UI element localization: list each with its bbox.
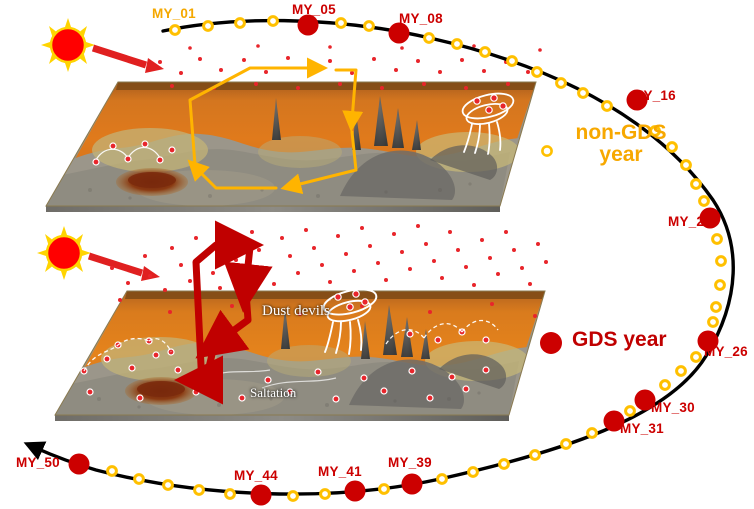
year-label-my-30: MY_30: [651, 400, 695, 415]
year-label-my-26: MY_26: [704, 344, 748, 359]
year-label-my-50: MY_50: [16, 455, 60, 470]
year-label-my-16: MY_16: [632, 88, 676, 103]
year-label-my-08: MY_08: [399, 11, 443, 26]
year-label-my-01: MY_01: [152, 6, 196, 21]
legend-nongds-line1: non-GDS: [558, 122, 684, 144]
panel-text-saltation: Saltation: [250, 385, 296, 401]
legend-nongds: non-GDS year: [558, 122, 684, 166]
year-label-my-39: MY_39: [388, 455, 432, 470]
panel-text-dust-devils: Dust devils: [262, 303, 330, 320]
legend-nongds-marker-icon: [538, 142, 556, 160]
mars-dust-storm-figure: MY_01MY_05MY_08MY_16MY_21MY_26MY_30MY_31…: [0, 0, 754, 509]
year-label-my-44: MY_44: [234, 468, 278, 483]
legend-gds-label: GDS year: [572, 329, 667, 351]
year-label-my-05: MY_05: [292, 2, 336, 17]
legend-gds-marker-icon: [536, 328, 566, 358]
year-label-my-21: MY_21: [668, 214, 712, 229]
year-label-my-31: MY_31: [620, 421, 664, 436]
legend-nongds-line2: year: [558, 144, 684, 166]
timeline-label-layer: MY_01MY_05MY_08MY_16MY_21MY_26MY_30MY_31…: [0, 0, 754, 509]
year-label-my-41: MY_41: [318, 464, 362, 479]
